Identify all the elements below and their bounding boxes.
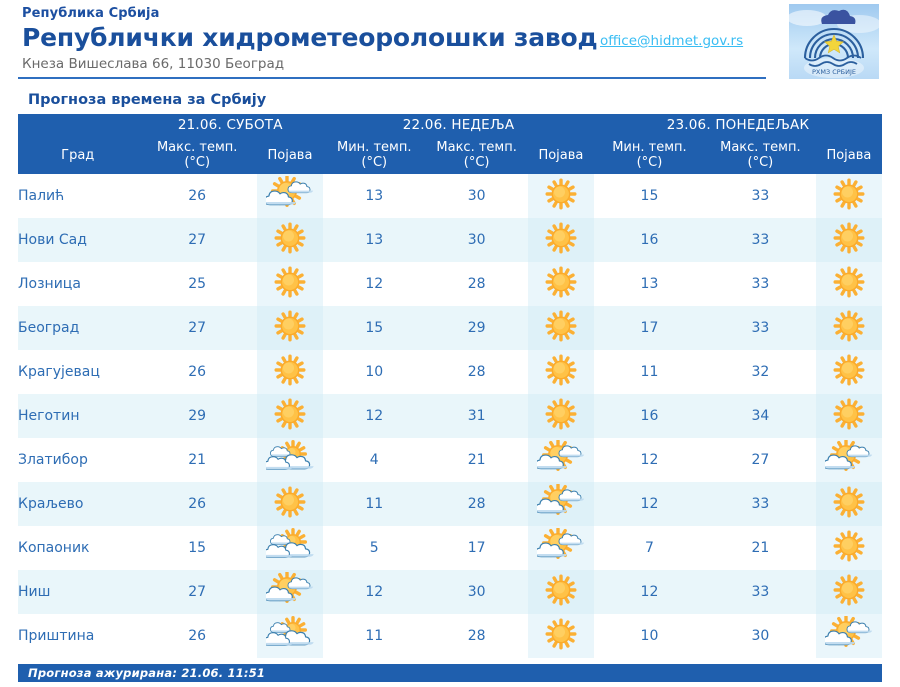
cell-sun-phenomenon [528, 614, 594, 658]
cell-sat-phenomenon [257, 350, 323, 394]
cell-mon-max: 33 [705, 306, 816, 350]
cell-sun-min: 12 [323, 262, 425, 306]
cell-sat-phenomenon [257, 306, 323, 350]
cell-sun-phenomenon [528, 438, 594, 482]
table-row: Нови Сад27 1330 1633 [18, 218, 882, 262]
sunny-icon [270, 397, 310, 431]
sunny-icon [829, 529, 869, 563]
cell-sun-min: 12 [323, 394, 425, 438]
sunny-icon [541, 265, 581, 299]
label-max-temp: Макс. темп. [157, 140, 237, 155]
cell-sun-min: 5 [323, 526, 425, 570]
sunny-icon [541, 353, 581, 387]
sunny-icon [829, 485, 869, 519]
col-header-sun-phenomenon: Појава [528, 136, 594, 174]
cell-mon-max: 33 [705, 482, 816, 526]
cell-mon-max: 33 [705, 570, 816, 614]
col-header-sat-phenomenon: Појава [257, 136, 323, 174]
partly-sunny-icon [537, 484, 585, 520]
table-row: Лозница25 1228 1333 [18, 262, 882, 306]
institute-address: Кнеза Вишеслава 66, 11030 Београд [22, 55, 900, 73]
cell-mon-min: 16 [594, 218, 705, 262]
cell-sat-max: 25 [137, 262, 256, 306]
label-unit: (°C) [184, 155, 210, 170]
sunny-icon [829, 353, 869, 387]
sunny-icon [541, 177, 581, 211]
cell-sat-phenomenon [257, 262, 323, 306]
table-body: Палић26 1330 1533 [18, 174, 882, 658]
cell-sun-min: 13 [323, 174, 425, 218]
cell-sun-max: 28 [425, 350, 527, 394]
cell-city: Приштина [18, 614, 137, 658]
cell-mon-min: 13 [594, 262, 705, 306]
cell-sat-phenomenon [257, 174, 323, 218]
cell-sun-min: 11 [323, 614, 425, 658]
cell-mon-min: 15 [594, 174, 705, 218]
mostly-cloudy-icon [266, 528, 314, 564]
cell-sun-min: 4 [323, 438, 425, 482]
cell-mon-min: 12 [594, 570, 705, 614]
label-unit: (°C) [464, 155, 490, 170]
cell-mon-max: 30 [705, 614, 816, 658]
cell-city: Крагујевац [18, 350, 137, 394]
cell-mon-phenomenon [816, 306, 882, 350]
cell-sat-phenomenon [257, 570, 323, 614]
republic-label: Република Србија [22, 6, 900, 22]
header-divider [18, 77, 766, 79]
partly-sunny-icon [825, 616, 873, 652]
col-header-city: Град [18, 136, 137, 174]
cell-mon-min: 10 [594, 614, 705, 658]
cell-mon-phenomenon [816, 174, 882, 218]
day-header-sunday: 22.06. НЕДЕЉА [323, 114, 594, 136]
cell-sat-max: 29 [137, 394, 256, 438]
cell-sat-phenomenon [257, 438, 323, 482]
sunny-icon [829, 309, 869, 343]
page-title: Прогноза времена за Србију [28, 92, 900, 108]
cell-sat-max: 26 [137, 174, 256, 218]
partly-sunny-icon [266, 176, 314, 212]
cell-city: Краљево [18, 482, 137, 526]
cell-sun-max: 21 [425, 438, 527, 482]
table-row: Београд27 1529 1733 [18, 306, 882, 350]
sunny-icon [541, 397, 581, 431]
cell-city: Златибор [18, 438, 137, 482]
cell-sun-phenomenon [528, 482, 594, 526]
cell-mon-phenomenon [816, 570, 882, 614]
cell-sun-min: 10 [323, 350, 425, 394]
cell-sat-phenomenon [257, 218, 323, 262]
cell-sat-phenomenon [257, 482, 323, 526]
cell-mon-max: 33 [705, 218, 816, 262]
cell-city: Београд [18, 306, 137, 350]
cell-sun-max: 17 [425, 526, 527, 570]
cell-sat-max: 27 [137, 218, 256, 262]
sunny-icon [270, 265, 310, 299]
cell-city: Неготин [18, 394, 137, 438]
label-unit: (°C) [637, 155, 663, 170]
cell-mon-min: 12 [594, 438, 705, 482]
logo-caption: РХМЗ СРБИЈЕ [812, 68, 856, 76]
cell-sun-max: 30 [425, 570, 527, 614]
cell-mon-phenomenon [816, 350, 882, 394]
label-unit: (°C) [748, 155, 774, 170]
cell-sat-max: 26 [137, 350, 256, 394]
cell-sun-phenomenon [528, 218, 594, 262]
sunny-icon [541, 617, 581, 651]
cell-mon-max: 33 [705, 262, 816, 306]
cell-sun-max: 28 [425, 614, 527, 658]
table-row: Краљево26 1128 1233 [18, 482, 882, 526]
cell-sun-min: 15 [323, 306, 425, 350]
cell-sun-min: 13 [323, 218, 425, 262]
cell-city: Лозница [18, 262, 137, 306]
cell-sun-max: 29 [425, 306, 527, 350]
cell-sat-phenomenon [257, 526, 323, 570]
table-row: Неготин29 1231 1634 [18, 394, 882, 438]
sunny-icon [829, 221, 869, 255]
mostly-cloudy-icon [266, 616, 314, 652]
cell-mon-phenomenon [816, 482, 882, 526]
cell-mon-min: 17 [594, 306, 705, 350]
cell-mon-max: 32 [705, 350, 816, 394]
logo-emblem-icon: РХМЗ СРБИЈЕ [789, 4, 879, 79]
cell-city: Ниш [18, 570, 137, 614]
col-header-mon-min: Мин. темп. (°C) [594, 136, 705, 174]
col-header-sun-min: Мин. темп. (°C) [323, 136, 425, 174]
table-row: Крагујевац26 1028 1132 [18, 350, 882, 394]
cell-mon-max: 21 [705, 526, 816, 570]
col-header-mon-phenomenon: Појава [816, 136, 882, 174]
label-min-temp: Мин. темп. [612, 140, 686, 155]
cell-mon-max: 34 [705, 394, 816, 438]
table-row: Ниш27 1230 1233 [18, 570, 882, 614]
cell-sun-phenomenon [528, 350, 594, 394]
table-row: Палић26 1330 1533 [18, 174, 882, 218]
forecast-table-container: 21.06. СУБОТА 22.06. НЕДЕЉА 23.06. ПОНЕД… [18, 114, 882, 658]
sunny-icon [829, 573, 869, 607]
cell-mon-max: 33 [705, 174, 816, 218]
column-header-row: Град Макс. темп. (°C) Појава Мин. темп. … [18, 136, 882, 174]
col-header-sat-max: Макс. темп. (°C) [137, 136, 256, 174]
cell-sun-min: 12 [323, 570, 425, 614]
label-unit: (°C) [361, 155, 387, 170]
cell-sun-max: 31 [425, 394, 527, 438]
table-head: 21.06. СУБОТА 22.06. НЕДЕЉА 23.06. ПОНЕД… [18, 114, 882, 174]
cell-sat-max: 26 [137, 482, 256, 526]
sunny-icon [541, 309, 581, 343]
sunny-icon [270, 485, 310, 519]
sunny-icon [270, 353, 310, 387]
partly-sunny-icon [266, 572, 314, 608]
cell-mon-min: 16 [594, 394, 705, 438]
cell-sat-max: 27 [137, 570, 256, 614]
cell-mon-phenomenon [816, 438, 882, 482]
cell-sun-max: 30 [425, 218, 527, 262]
cell-sun-phenomenon [528, 306, 594, 350]
cell-sun-phenomenon [528, 262, 594, 306]
sunny-icon [829, 397, 869, 431]
sunny-icon [270, 309, 310, 343]
sunny-icon [541, 573, 581, 607]
col-header-mon-max: Макс. темп. (°C) [705, 136, 816, 174]
cell-mon-phenomenon [816, 614, 882, 658]
cell-sat-max: 15 [137, 526, 256, 570]
forecast-table: 21.06. СУБОТА 22.06. НЕДЕЉА 23.06. ПОНЕД… [18, 114, 882, 658]
col-header-sun-max: Макс. темп. (°C) [425, 136, 527, 174]
page-header: Република Србија Републички хидрометеоро… [0, 0, 900, 82]
day-header-monday: 23.06. ПОНЕДЕЉАК [594, 114, 882, 136]
cell-mon-phenomenon [816, 394, 882, 438]
cell-sun-phenomenon [528, 526, 594, 570]
cell-sun-phenomenon [528, 570, 594, 614]
cell-sun-phenomenon [528, 174, 594, 218]
sunny-icon [541, 221, 581, 255]
partly-sunny-icon [537, 528, 585, 564]
cell-sat-max: 26 [137, 614, 256, 658]
table-row: Златибор21 421 [18, 438, 882, 482]
table-row: Приштина26 1128 1030 [18, 614, 882, 658]
partly-sunny-icon [537, 440, 585, 476]
cell-sat-phenomenon [257, 394, 323, 438]
cell-mon-max: 27 [705, 438, 816, 482]
sunny-icon [270, 221, 310, 255]
cell-sat-max: 21 [137, 438, 256, 482]
cell-mon-min: 7 [594, 526, 705, 570]
cell-city: Копаоник [18, 526, 137, 570]
contact-email-link[interactable]: office@hidmet.gov.rs [600, 33, 743, 49]
cell-sun-min: 11 [323, 482, 425, 526]
cell-mon-min: 11 [594, 350, 705, 394]
updated-status-bar: Прогноза ажурирана: 21.06. 11:51 [18, 664, 882, 682]
cell-city: Нови Сад [18, 218, 137, 262]
institute-logo: РХМЗ СРБИЈЕ [789, 4, 879, 79]
label-max-temp: Макс. темп. [720, 140, 800, 155]
cell-mon-min: 12 [594, 482, 705, 526]
institute-title: Републички хидрометеоролошки завод [22, 23, 900, 53]
cell-mon-phenomenon [816, 526, 882, 570]
cell-mon-phenomenon [816, 262, 882, 306]
cell-sun-max: 28 [425, 262, 527, 306]
cell-sun-max: 30 [425, 174, 527, 218]
cell-sat-max: 27 [137, 306, 256, 350]
table-row: Копаоник15 517 [18, 526, 882, 570]
day-header-spacer [18, 114, 137, 136]
cell-sun-phenomenon [528, 394, 594, 438]
sunny-icon [829, 177, 869, 211]
mostly-cloudy-icon [266, 440, 314, 476]
day-header-row: 21.06. СУБОТА 22.06. НЕДЕЉА 23.06. ПОНЕД… [18, 114, 882, 136]
label-min-temp: Мин. темп. [337, 140, 411, 155]
day-header-saturday: 21.06. СУБОТА [137, 114, 323, 136]
cell-city: Палић [18, 174, 137, 218]
partly-sunny-icon [825, 440, 873, 476]
cell-sun-max: 28 [425, 482, 527, 526]
cell-sat-phenomenon [257, 614, 323, 658]
sunny-icon [829, 265, 869, 299]
label-max-temp: Макс. темп. [436, 140, 516, 155]
cell-mon-phenomenon [816, 218, 882, 262]
